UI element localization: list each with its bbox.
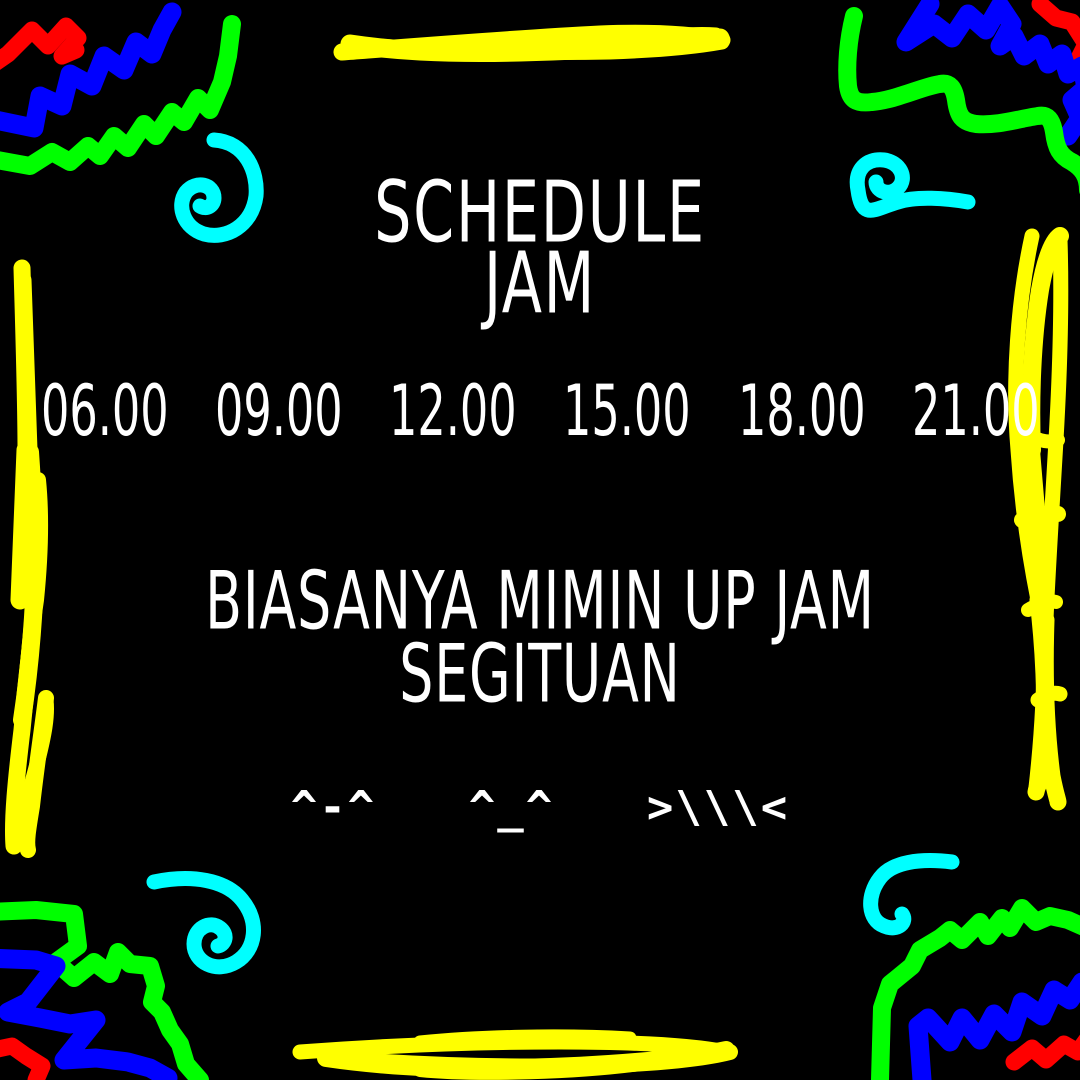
- kaomoji-row: ^-^ ^_^ >\\\<: [0, 786, 1080, 830]
- message-line-2: SEGITUAN: [92, 633, 988, 715]
- title-line-jam: JAM: [76, 243, 1005, 323]
- message-text: BIASANYA MIMIN UP JAM SEGITUAN: [0, 560, 1080, 707]
- poster-content: SCHEDULE JAM 06.00 09.00 12.00 15.00 18.…: [0, 0, 1080, 1080]
- schedule-time-1800: 18.00: [737, 376, 865, 447]
- schedule-time-0600: 06.00: [41, 376, 169, 447]
- schedule-time-1200: 12.00: [389, 376, 517, 447]
- schedule-time-2100: 21.00: [912, 376, 1040, 447]
- kaomoji-happy-dash: ^-^: [291, 786, 376, 830]
- schedule-time-0900: 09.00: [215, 376, 343, 447]
- kaomoji-happy-underscore: ^_^: [469, 786, 554, 830]
- poster-canvas: SCHEDULE JAM 06.00 09.00 12.00 15.00 18.…: [0, 0, 1080, 1080]
- schedule-time-1500: 15.00: [563, 376, 691, 447]
- kaomoji-blush: >\\\<: [647, 786, 789, 830]
- schedule-times-row: 06.00 09.00 12.00 15.00 18.00 21.00: [0, 380, 1080, 442]
- page-title: SCHEDULE JAM: [0, 172, 1080, 315]
